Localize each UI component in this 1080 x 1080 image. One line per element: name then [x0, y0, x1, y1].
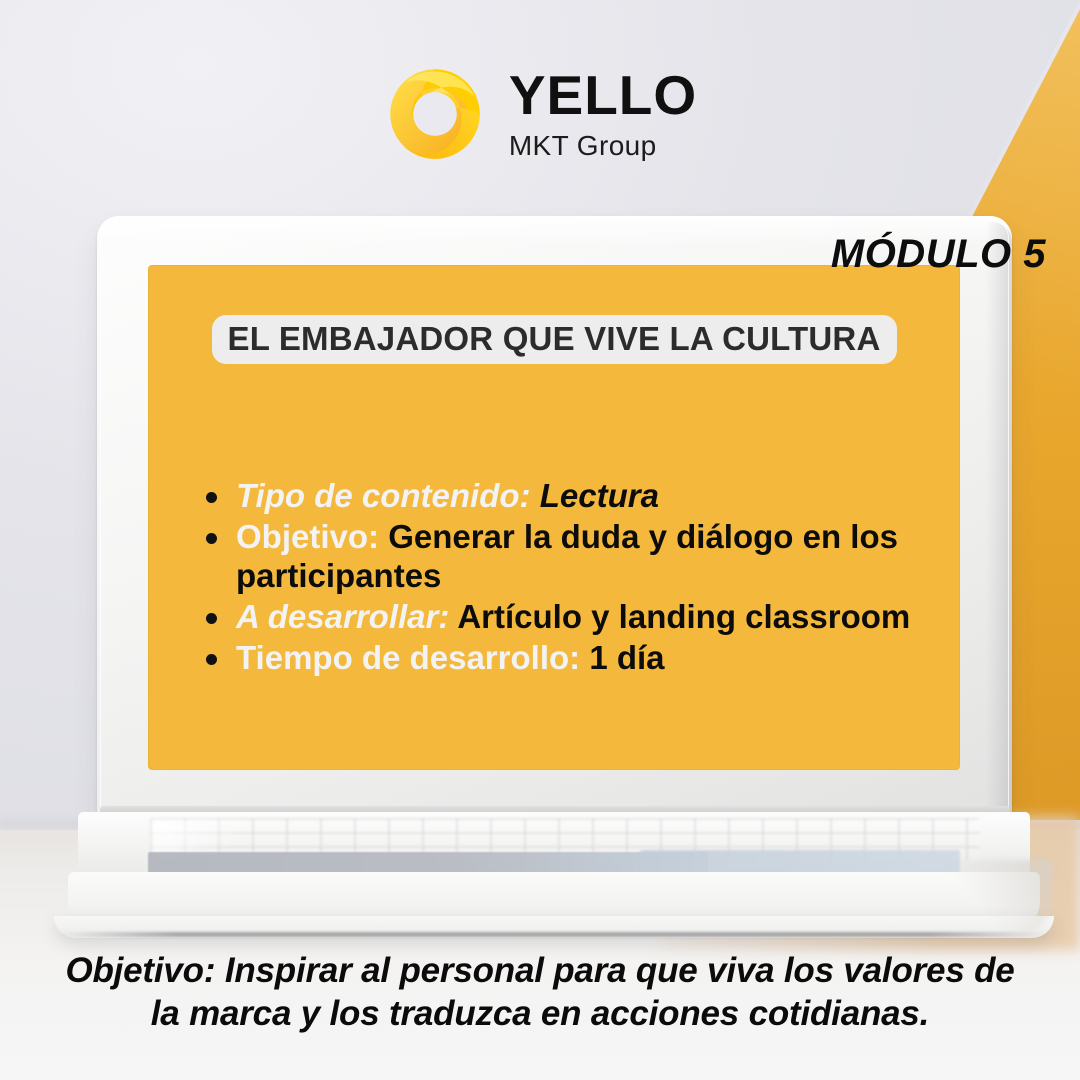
list-item: Tipo de contenido: Lectura: [194, 477, 930, 515]
bullet-value: 1 día: [589, 639, 664, 676]
bullet-label: Tiempo de desarrollo:: [236, 639, 580, 676]
list-item: A desarrollar: Artículo y landing classr…: [194, 598, 930, 636]
module-tag: MÓDULO 5: [831, 232, 1046, 277]
bottom-caption: Objetivo: Inspirar al personal para que …: [60, 950, 1020, 1035]
presentation-slide: EL EMBAJADOR QUE VIVE LA CULTURA Tipo de…: [148, 265, 960, 770]
keyboard-sheen: [152, 820, 272, 856]
list-item: Tiempo de desarrollo: 1 día: [194, 639, 930, 677]
laptop-base-right-curve: [932, 860, 1052, 938]
brand-header: YELLO MKT Group: [0, 62, 1080, 166]
bullet-value: Artículo y landing classroom: [457, 598, 910, 635]
poster-canvas: YELLO MKT Group MÓDULO 5 EL EMBAJADOR QU…: [0, 0, 1080, 1080]
yello-swirl-logo-icon: [383, 62, 487, 166]
lid-right-shadow: [986, 222, 1012, 816]
list-item: Objetivo: Generar la duda y diálogo en l…: [194, 518, 930, 595]
bullet-label: Tipo de contenido:: [236, 477, 531, 514]
slide-bullet-list: Tipo de contenido: Lectura Objetivo: Gen…: [194, 477, 930, 680]
bullet-label: Objetivo:: [236, 518, 379, 555]
brand-tagline: MKT Group: [509, 132, 697, 160]
brand-wordmark: YELLO MKT Group: [509, 68, 697, 160]
bullet-label: A desarrollar:: [236, 598, 449, 635]
bullet-value: Lectura: [540, 477, 659, 514]
slide-title-text: EL EMBAJADOR QUE VIVE LA CULTURA: [212, 315, 897, 364]
laptop-base-shadow: [58, 932, 1048, 937]
brand-name: YELLO: [509, 68, 697, 123]
laptop-screen: EL EMBAJADOR QUE VIVE LA CULTURA Tipo de…: [148, 265, 960, 770]
slide-title: EL EMBAJADOR QUE VIVE LA CULTURA: [148, 317, 960, 361]
